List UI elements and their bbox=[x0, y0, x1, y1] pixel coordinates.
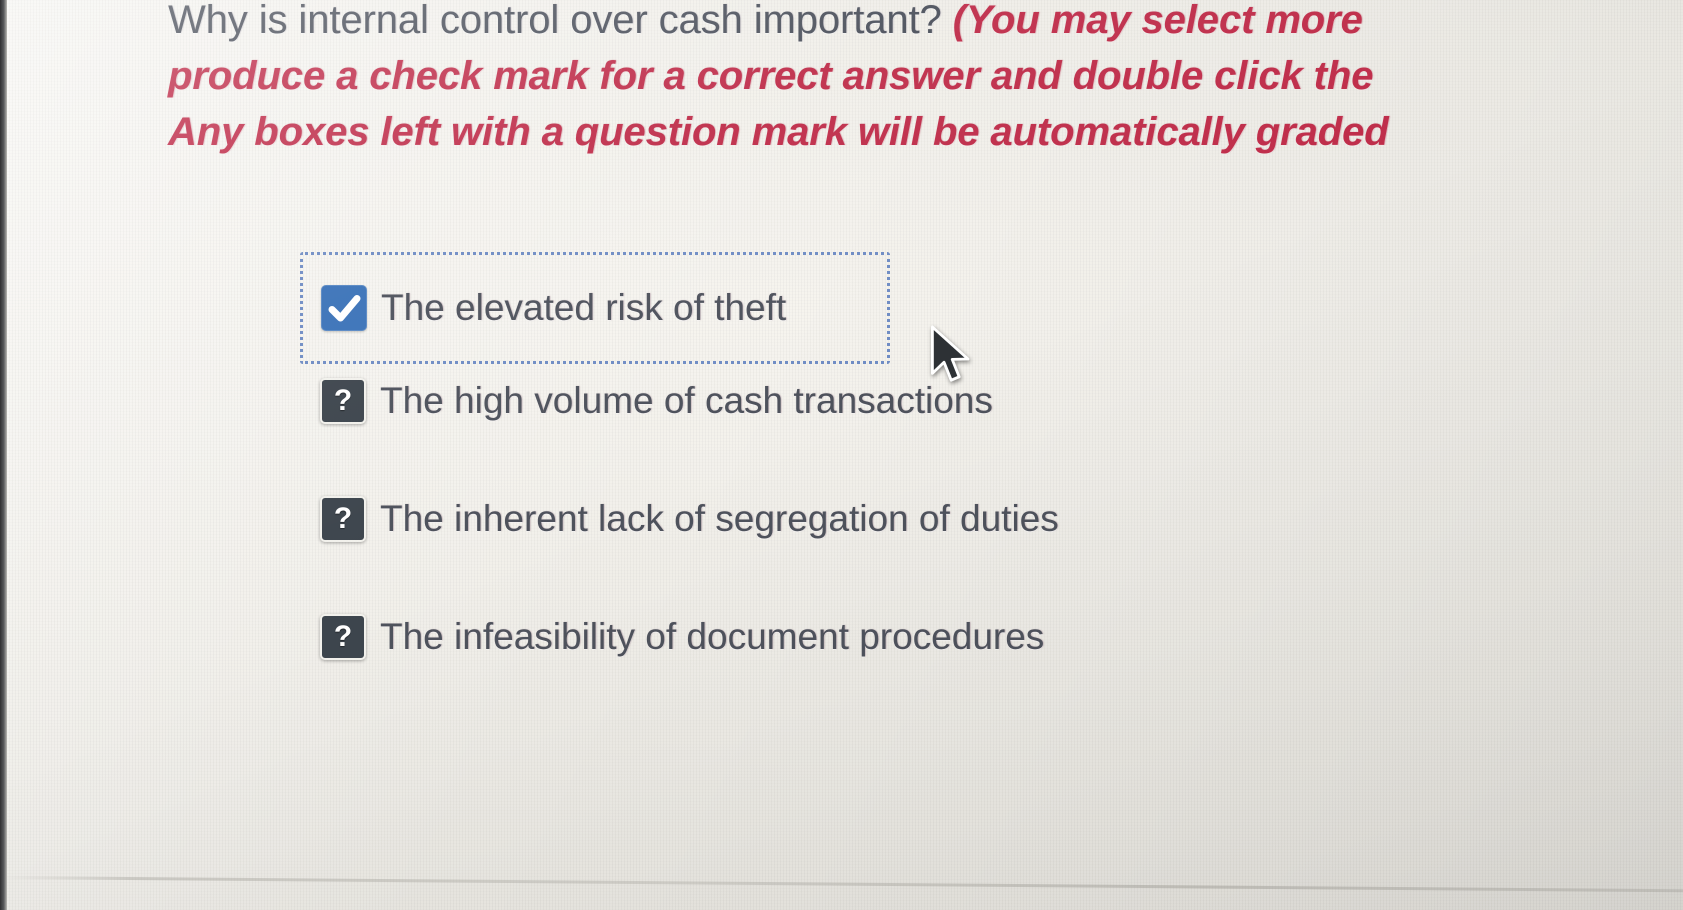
option-row-lack-of-segregation-of-duties[interactable]: ? The inherent lack of segregation of du… bbox=[300, 488, 1059, 550]
arrow-cursor bbox=[930, 325, 974, 392]
question-mark-glyph: ? bbox=[322, 498, 364, 540]
question-mark-glyph: ? bbox=[322, 616, 364, 658]
question-mark-box-icon[interactable]: ? bbox=[320, 614, 366, 660]
question-prompt: Why is internal control over cash import… bbox=[168, 0, 1683, 160]
monitor-bezel-left bbox=[0, 0, 7, 910]
quiz-content: Why is internal control over cash import… bbox=[0, 0, 1683, 910]
option-row-infeasibility-of-document-procedures[interactable]: ? The infeasibility of document procedur… bbox=[300, 606, 1059, 668]
question-mark-box-icon[interactable]: ? bbox=[320, 496, 366, 542]
question-line-1: Why is internal control over cash import… bbox=[168, 0, 1683, 48]
question-mark-box-icon[interactable]: ? bbox=[320, 378, 366, 424]
question-line-2: produce a check mark for a correct answe… bbox=[168, 48, 1683, 104]
question-mark-glyph: ? bbox=[322, 380, 364, 422]
option-label: The high volume of cash transactions bbox=[380, 379, 993, 423]
instruction-part-2: produce a check mark for a correct answe… bbox=[168, 54, 1373, 98]
instruction-part-1: (You may select more bbox=[953, 0, 1363, 42]
option-label: The inherent lack of segregation of duti… bbox=[380, 497, 1059, 541]
instruction-part-3: Any boxes left with a question mark will… bbox=[168, 110, 1389, 154]
option-row-elevated-risk-of-theft[interactable]: The elevated risk of theft bbox=[300, 252, 890, 364]
answer-options-list: The elevated risk of theft ? The high vo… bbox=[300, 252, 1059, 724]
option-label: The infeasibility of document procedures bbox=[380, 615, 1044, 659]
question-stem: Why is internal control over cash import… bbox=[168, 0, 953, 42]
checked-checkbox-icon[interactable] bbox=[321, 285, 367, 331]
question-line-3: Any boxes left with a question mark will… bbox=[168, 104, 1683, 160]
option-label: The elevated risk of theft bbox=[381, 286, 786, 330]
